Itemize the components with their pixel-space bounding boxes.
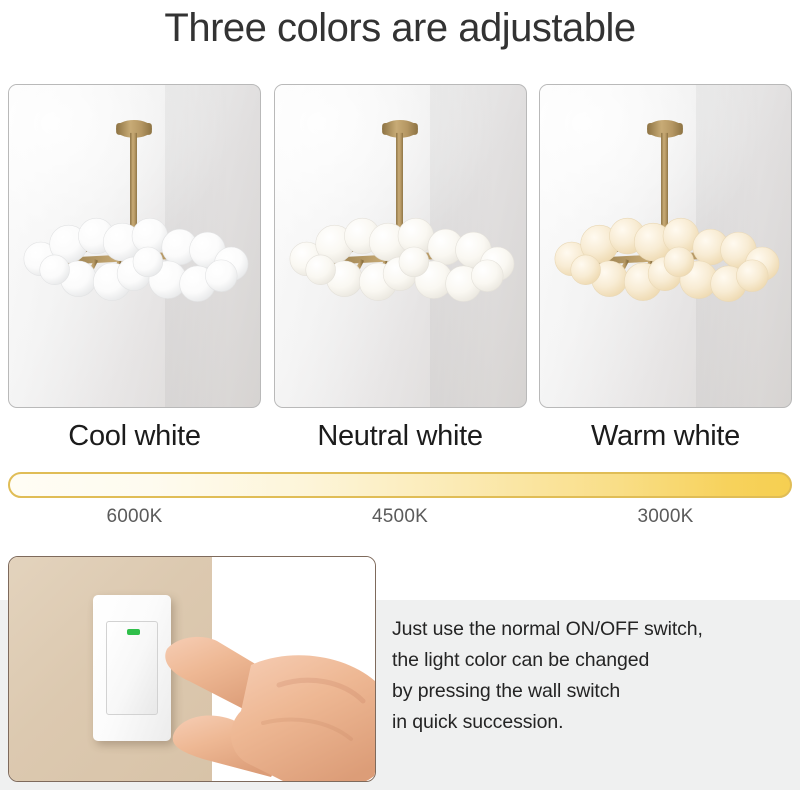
instruction-line-4: in quick succession. bbox=[392, 707, 792, 738]
kelvin-label-row: 6000K 4500K 3000K bbox=[8, 506, 792, 532]
photo-card-neutral-white bbox=[274, 84, 527, 408]
photo-card-cool-white bbox=[8, 84, 261, 408]
hand-pressing-switch bbox=[159, 619, 376, 782]
instruction-line-1: Just use the normal ON/OFF switch, bbox=[392, 614, 792, 645]
green-led-indicator-icon bbox=[127, 629, 140, 635]
color-label-row: Cool white Neutral white Warm white bbox=[8, 420, 792, 460]
page-title: Three colors are adjustable bbox=[0, 6, 800, 51]
wall-switch-photo-card bbox=[8, 556, 376, 782]
color-label-neutral-white: Neutral white bbox=[274, 420, 527, 460]
kelvin-label-4500k: 4500K bbox=[274, 506, 527, 532]
kelvin-label-6000k: 6000K bbox=[8, 506, 261, 532]
switch-rocker-button[interactable] bbox=[106, 621, 158, 715]
instruction-line-2: the light color can be changed bbox=[392, 645, 792, 676]
kelvin-label-3000k: 3000K bbox=[539, 506, 792, 532]
color-mode-panel-row bbox=[8, 84, 792, 408]
instruction-line-3: by pressing the wall switch bbox=[392, 676, 792, 707]
chandelier-warm-white bbox=[540, 85, 791, 407]
color-label-cool-white: Cool white bbox=[8, 420, 261, 460]
instruction-text-block: Just use the normal ON/OFF switch, the l… bbox=[392, 614, 792, 738]
chandelier-cool-white bbox=[9, 85, 260, 407]
color-temperature-gradient-bar bbox=[8, 472, 792, 498]
chandelier-neutral-white bbox=[275, 85, 526, 407]
photo-card-warm-white bbox=[539, 84, 792, 408]
color-label-warm-white: Warm white bbox=[539, 420, 792, 460]
